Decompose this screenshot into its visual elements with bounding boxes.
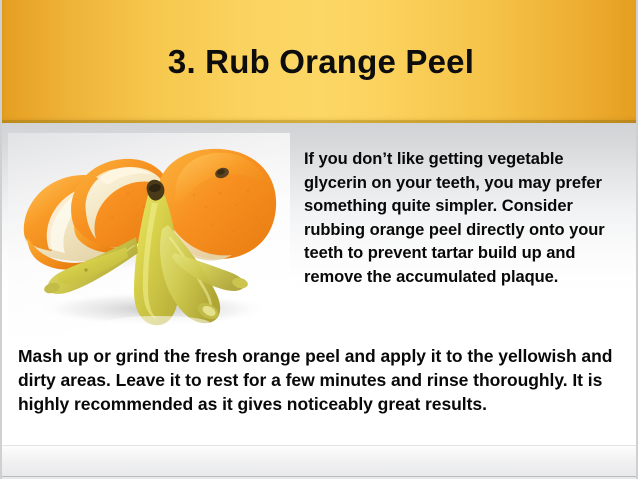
right-body-paragraph: If you don’t like getting vegetable glyc…	[304, 148, 626, 290]
presentation-slide: 3. Rub Orange Peel	[0, 0, 638, 479]
slide-title: 3. Rub Orange Peel	[2, 41, 638, 82]
bottom-paragraph-text: Mash up or grind the fresh orange peel a…	[18, 344, 628, 417]
slide-footer	[2, 445, 638, 479]
slide-header-banner: 3. Rub Orange Peel	[2, 0, 638, 123]
orange-peel-photo	[8, 133, 290, 335]
bottom-body-paragraph: Mash up or grind the fresh orange peel a…	[18, 344, 628, 417]
right-paragraph-text: If you don’t like getting vegetable glyc…	[304, 148, 626, 290]
footer-rule	[2, 476, 638, 477]
